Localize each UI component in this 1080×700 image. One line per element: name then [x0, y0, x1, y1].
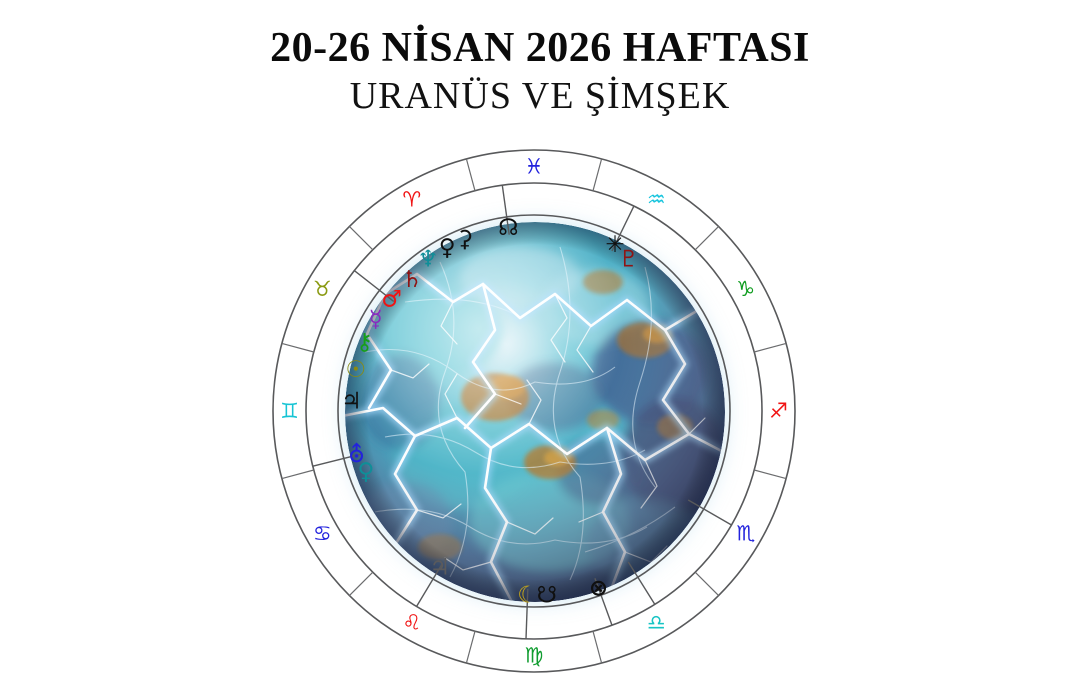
planet-glyph-sun: ☉ [345, 357, 366, 383]
sign-glyph-virgo: ♍ [525, 644, 544, 668]
zodiac-wheel: ♓♒♑♐♏♎♍♌♋♊♉♈ ☊✳♇⚳♀♆♄♂☿⚷☉♃⛢♀♃☾☋⊗ [0, 0, 1080, 700]
sign-boundary-tick [349, 572, 372, 595]
wheel-svg: ♓♒♑♐♏♎♍♌♋♊♉♈ ☊✳♇⚳♀♆♄♂☿⚷☉♃⛢♀♃☾☋⊗ [0, 0, 1080, 700]
planet-glyph-part-of-fortune: ⊗ [589, 575, 608, 601]
house-cusp-line [688, 500, 731, 525]
planet-glyphs: ☊✳♇⚳♀♆♄♂☿⚷☉♃⛢♀♃☾☋⊗ [341, 215, 639, 609]
planet-glyph-saturn: ♄ [402, 267, 423, 293]
planet-glyph-jupiter-alt: ♃ [341, 388, 362, 414]
sign-glyph-cancer: ♋ [313, 521, 332, 545]
sign-glyph-taurus: ♉ [313, 277, 332, 301]
sign-glyph-gemini: ♊ [280, 399, 299, 423]
planet-glyph-chiron: ⚷ [356, 330, 373, 356]
planet-glyph-venus: ♀ [439, 235, 456, 261]
sign-glyph-sagittarius: ♐ [769, 399, 788, 423]
sign-boundary-tick [754, 343, 786, 352]
planet-glyph-venus-2: ♀ [357, 459, 374, 485]
middle-ring [306, 183, 762, 639]
sign-boundary-tick [695, 572, 718, 595]
planet-glyph-south-node: ☋ [537, 582, 557, 608]
sign-glyph-scorpio: ♏ [736, 521, 755, 545]
sign-boundary-tick [754, 470, 786, 479]
sign-boundary-tick [466, 159, 475, 191]
sign-boundary-tick [695, 226, 718, 249]
sign-glyph-leo: ♌ [402, 611, 421, 635]
sign-boundary-tick [282, 470, 314, 479]
planet-glyph-pluto: ♇ [618, 246, 639, 272]
sign-boundary-tick [466, 631, 475, 663]
sign-boundary-tick [593, 159, 602, 191]
sign-glyph-capricorn: ♑ [736, 277, 755, 301]
astrology-weekly-graphic: 20-26 NİSAN 2026 HAFTASI URANÜS VE ŞİMŞE… [0, 0, 1080, 700]
sign-boundary-tick [282, 343, 314, 352]
planet-glyph-moon: ☾ [517, 583, 538, 609]
planet-glyph-ceres: ⚳ [456, 227, 473, 253]
planet-glyph-mars: ♂ [381, 287, 402, 313]
sign-glyph-aquarius: ♒ [647, 187, 666, 211]
sign-boundary-tick [349, 226, 372, 249]
sign-glyph-libra: ♎ [647, 611, 666, 635]
sign-boundary-tick [593, 631, 602, 663]
planet-glyph-jupiter: ♃ [429, 555, 450, 581]
sign-glyph-pisces: ♓ [525, 155, 544, 179]
sign-glyph-aries: ♈ [402, 187, 421, 211]
planet-glyph-north-node: ☊ [498, 215, 518, 241]
inner-ring [338, 215, 730, 607]
